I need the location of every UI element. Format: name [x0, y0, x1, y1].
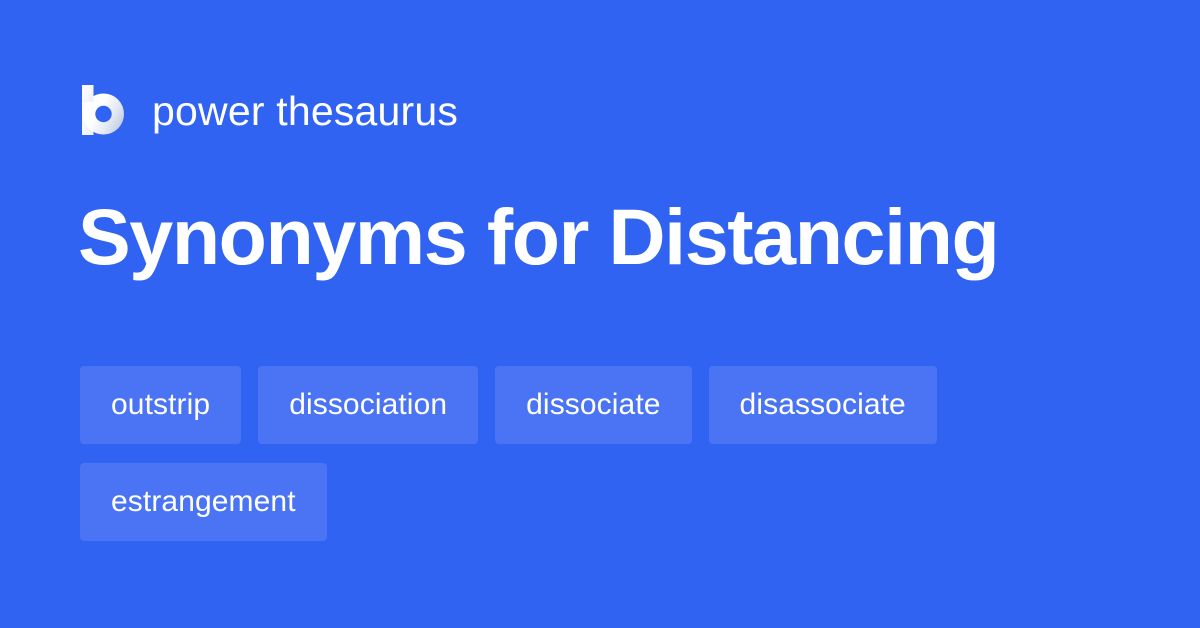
synonym-chip[interactable]: disassociate: [709, 366, 937, 444]
synonym-chip[interactable]: estrangement: [80, 463, 327, 541]
page-title: Synonyms for Distancing: [78, 197, 998, 276]
brand-name: Power Thesaurus: [152, 91, 458, 132]
synonym-list: outstrip dissociation dissociate disasso…: [80, 366, 1120, 541]
synonym-chip[interactable]: dissociation: [258, 366, 478, 444]
brand-lockup[interactable]: Power Thesaurus: [80, 78, 458, 142]
power-thesaurus-b-logo-icon: [80, 85, 128, 135]
synonym-chip[interactable]: dissociate: [495, 366, 691, 444]
synonym-chip[interactable]: outstrip: [80, 366, 241, 444]
share-card: Power Thesaurus Synonyms for Distancing …: [0, 0, 1200, 628]
